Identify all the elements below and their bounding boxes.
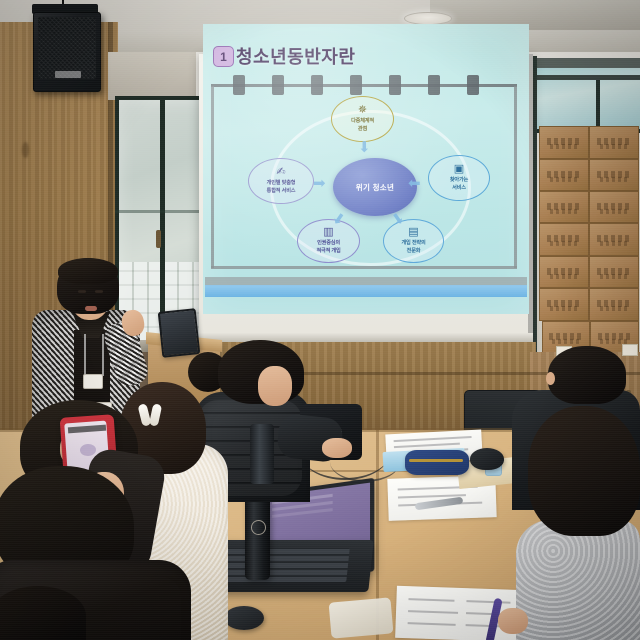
lectern-tablet[interactable] — [158, 308, 201, 358]
diagram-node-right: ▣ 찾아가는 서비스 — [428, 155, 490, 201]
window-mullion — [160, 96, 165, 346]
slide-number-badge: 1 — [213, 46, 234, 67]
diagram-node-bottom-left: ▥ 인권중심의 적극적 개입 — [297, 219, 360, 263]
presentation-room-photo: 1 청소년동반자란 ✵ 다중체계적 관점 ✍ 개인별 맞춤형 통합적 서비스 ▣… — [0, 0, 640, 640]
speaker-logo — [55, 71, 81, 78]
cardboard-box — [539, 126, 589, 159]
window-right-mullion — [596, 80, 600, 126]
stacked-boxes — [539, 126, 640, 354]
diagram-center-node: 위기 청소년 — [333, 158, 417, 216]
right-attendee-near-hair — [528, 406, 640, 536]
cardboard-box — [589, 256, 639, 288]
tumbler-logo — [251, 520, 266, 535]
chart-icon: ▥ — [323, 227, 333, 238]
atom-icon: ✵ — [358, 105, 367, 116]
id-badge — [83, 374, 103, 389]
right-attendee-hand — [498, 608, 528, 634]
diagram-node-label: 전문화 — [407, 248, 421, 255]
presenter-mouth — [85, 306, 97, 311]
speaker-grille — [38, 17, 96, 79]
presenter-eye — [78, 290, 86, 293]
cardboard-box — [539, 191, 589, 223]
pencil-case — [405, 450, 469, 475]
diagram-node-label: 통합적 서비스 — [267, 188, 296, 195]
right-attendee-near-sweater — [516, 520, 640, 640]
right-attendee-far-hair — [548, 346, 626, 404]
window-right-rail — [536, 75, 640, 80]
slide-rail-marker — [272, 75, 284, 95]
diagram-node-label: 서비스 — [452, 185, 466, 192]
cardboard-box — [539, 159, 589, 191]
cardboard-box — [589, 288, 639, 321]
slide-frame-bottom — [211, 266, 517, 269]
slide-accent-band — [205, 285, 527, 297]
pencil-case-zipper — [409, 459, 463, 462]
diagram-node-label: 인권중심의 — [317, 240, 340, 247]
diagram-node-label: 개입 전략의 — [401, 240, 425, 247]
cardboard-box — [539, 256, 589, 288]
diagram-node-label: 관점 — [358, 126, 367, 133]
cardboard-box — [589, 159, 639, 191]
presenter-fringe — [58, 258, 118, 284]
window-right-header — [536, 58, 640, 68]
diagram-node-label: 개인별 맞춤형 — [267, 180, 296, 187]
diagram-node-label: 다중체계적 — [351, 118, 374, 125]
wood-knot — [22, 142, 29, 158]
window-handle[interactable] — [156, 230, 161, 248]
briefcase-icon: ▣ — [454, 164, 464, 175]
slide-rail-marker — [311, 75, 323, 95]
document-icon: ▤ — [408, 227, 418, 238]
cardboard-box — [539, 223, 589, 256]
slide-rail-marker — [428, 75, 440, 95]
handshake-icon: ✍ — [276, 167, 285, 178]
slide-frame-right — [514, 86, 517, 268]
window-right — [536, 58, 640, 133]
dark-tumbler — [250, 424, 274, 484]
presenter-eye — [95, 290, 103, 293]
diagram-node-label: 적극적 개입 — [316, 248, 340, 255]
right-attendee-ear — [546, 372, 555, 385]
slide-rail-marker — [350, 75, 362, 95]
wireless-mouse[interactable] — [224, 606, 264, 630]
slide-rail-marker — [389, 75, 401, 95]
cardboard-box — [539, 288, 589, 321]
diagram-node-top: ✵ 다중체계적 관점 — [331, 96, 394, 142]
slide-number-text: 1 — [220, 51, 227, 63]
laptop-user-face — [258, 366, 292, 406]
ceiling-speaker — [33, 12, 101, 92]
lanyard — [84, 334, 104, 376]
slide-rail-marker — [467, 75, 479, 95]
slide-title: 청소년동반자란 — [236, 43, 355, 69]
snack-pack — [329, 597, 394, 638]
slide-frame-left — [211, 86, 214, 268]
arrow-down-icon: ⬇ — [358, 140, 371, 155]
cabinet-label-tag — [622, 344, 638, 356]
diagram-center-label: 위기 청소년 — [356, 182, 394, 193]
diagram-node-bottom-right: ▤ 개입 전략의 전문화 — [383, 219, 444, 263]
laptop-user-hand — [322, 438, 352, 458]
cardboard-box — [589, 126, 639, 159]
diagram-node-label: 찾아가는 — [450, 177, 468, 184]
arrow-right-icon: ➡ — [313, 176, 326, 191]
slide-rail-marker — [233, 75, 245, 95]
cardboard-box — [589, 223, 639, 256]
arrow-left-icon: ⬅ — [408, 176, 421, 191]
wireless-mouse[interactable] — [470, 448, 504, 470]
diagram-node-left: ✍ 개인별 맞춤형 통합적 서비스 — [248, 158, 314, 204]
cardboard-box — [589, 191, 639, 223]
